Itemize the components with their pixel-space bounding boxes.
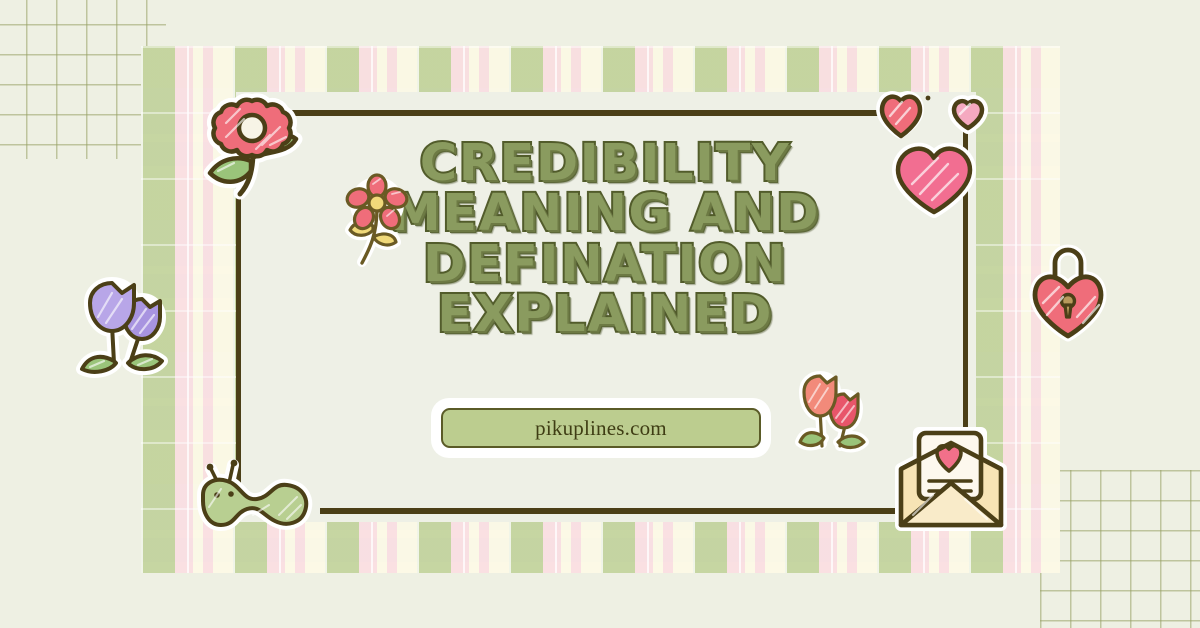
title-line-4: EXPLAINED	[370, 291, 840, 338]
love-letter-icon	[893, 425, 1009, 535]
caterpillar-icon	[193, 455, 315, 535]
tulips-pink-icon	[794, 374, 870, 454]
website-button-inner[interactable]: pikuplines.com	[441, 408, 761, 448]
title-line-1: CREDIBILITY	[370, 140, 840, 187]
heart-padlock-icon	[1029, 243, 1107, 340]
tulips-purple-icon	[72, 277, 177, 379]
flower-small-icon	[340, 178, 410, 268]
title-line-2: MEANING AND	[370, 190, 840, 237]
website-button-label: pikuplines.com	[535, 416, 667, 441]
title-line-3: DEFINATION	[370, 241, 840, 288]
hearts-icon	[876, 88, 992, 212]
website-button[interactable]: pikuplines.com	[437, 404, 765, 452]
page-title: CREDIBILITY MEANING AND DEFINATION EXPLA…	[370, 140, 840, 342]
poster-canvas: CREDIBILITY MEANING AND DEFINATION EXPLA…	[0, 0, 1200, 628]
bottom-right-grid	[1040, 470, 1200, 628]
flower-large-icon	[196, 93, 316, 203]
